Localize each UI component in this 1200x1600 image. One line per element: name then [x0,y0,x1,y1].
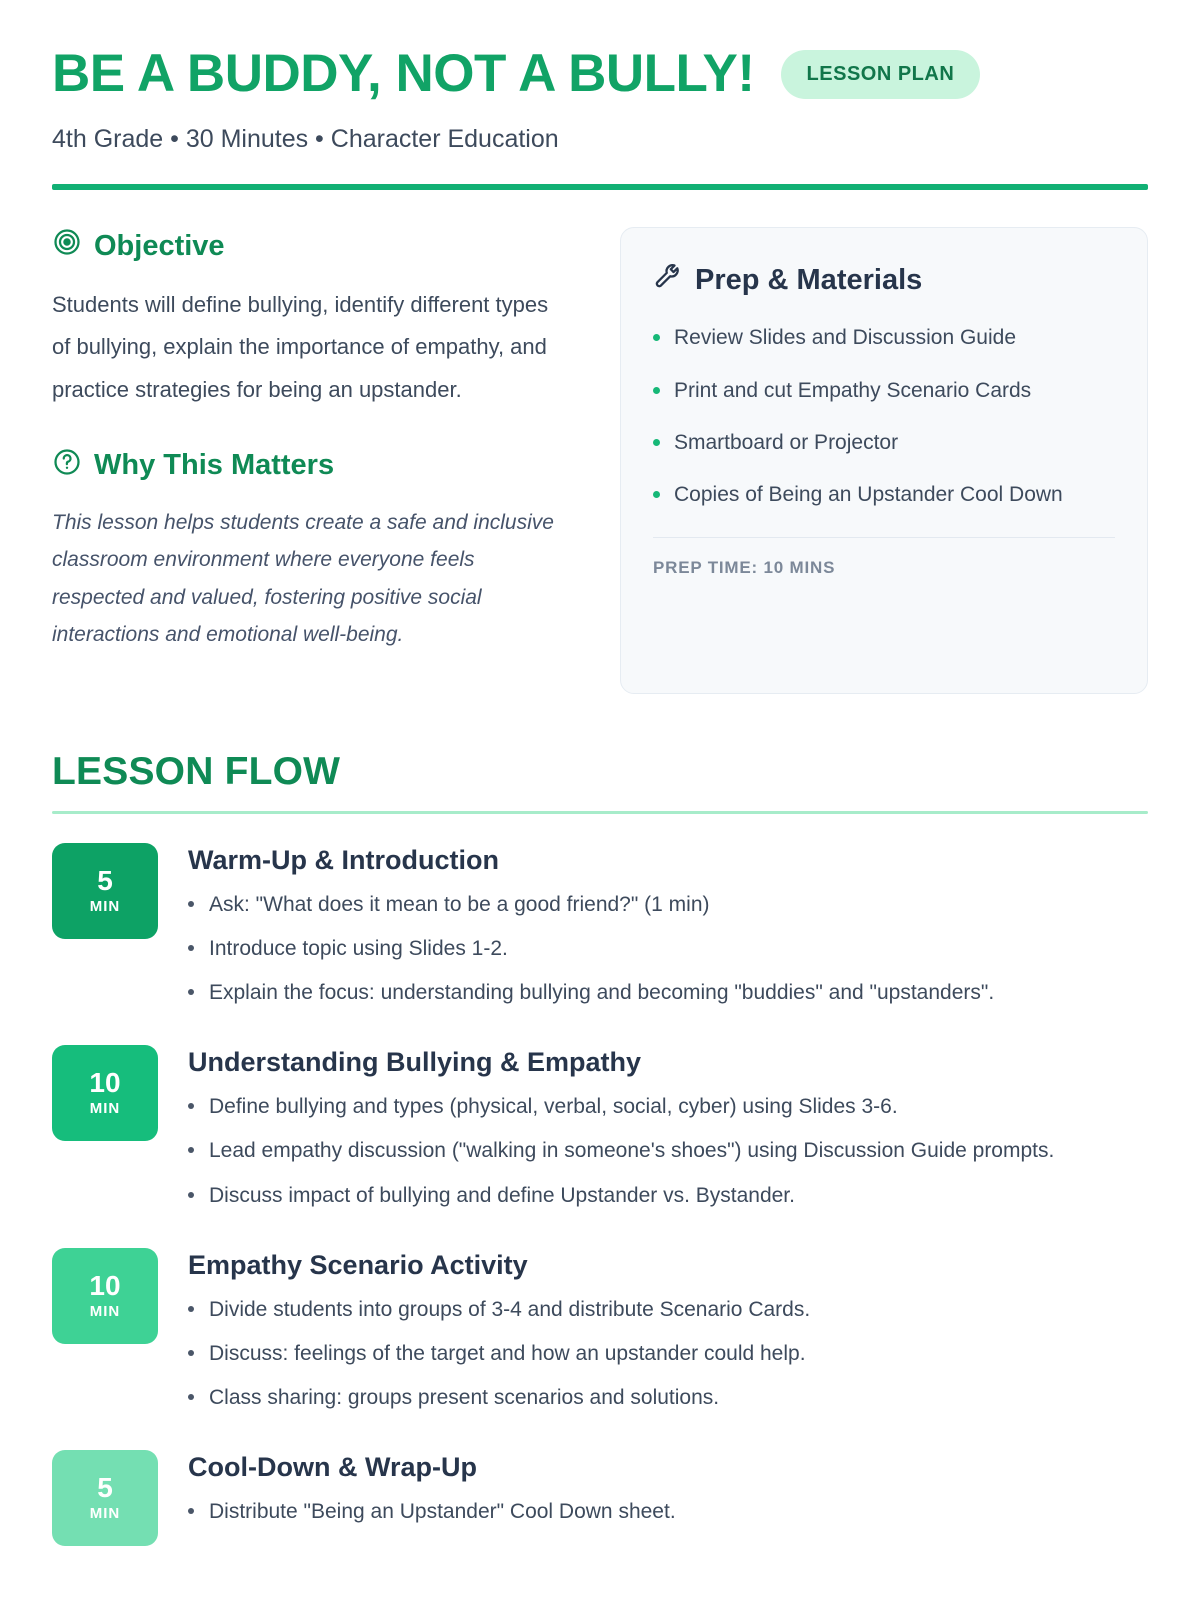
bullet-dot [188,1350,194,1356]
bullet-dot [188,989,194,995]
step-title: Cool-Down & Wrap-Up [188,1452,1148,1483]
right-column: Prep & Materials Review Slides and Discu… [620,227,1148,694]
why-heading: Why This Matters [94,449,334,482]
step-bullet-list: Divide students into groups of 3-4 and d… [188,1294,1148,1413]
lesson-step: 5 MIN Cool-Down & Wrap-Up Distribute "Be… [52,1450,1148,1546]
lesson-flow-divider [52,811,1148,814]
prep-time-label: PREP TIME: 10 MINS [653,558,1115,578]
list-item-label: Class sharing: groups present scenarios … [209,1382,719,1413]
list-item: Lead empathy discussion ("walking in som… [188,1135,1148,1166]
bullet-dot [188,1103,194,1109]
document-subtitle: 4th Grade • 30 Minutes • Character Educa… [52,125,1148,154]
list-item: Distribute "Being an Upstander" Cool Dow… [188,1496,1148,1527]
list-item: Explain the focus: understanding bullyin… [188,977,1148,1008]
document-header: BE A BUDDY, NOT A BULLY! LESSON PLAN [52,46,1148,102]
bullet-dot [188,1306,194,1312]
list-item: Discuss: feelings of the target and how … [188,1338,1148,1369]
step-time-badge: 10 MIN [52,1045,158,1141]
step-title: Warm-Up & Introduction [188,845,1148,876]
left-column: Objective Students will define bullying,… [52,227,572,653]
question-circle-icon [52,447,82,485]
lesson-step: 5 MIN Warm-Up & Introduction Ask: "What … [52,843,1148,1008]
step-time-unit: MIN [90,1100,121,1117]
page-title: BE A BUDDY, NOT A BULLY! [52,46,755,102]
list-item-label: Lead empathy discussion ("walking in som… [209,1135,1054,1166]
prep-materials-list: Review Slides and Discussion Guide Print… [653,323,1115,511]
lesson-plan-badge: LESSON PLAN [781,50,981,99]
step-time-unit: MIN [90,1505,121,1522]
step-time-unit: MIN [90,1303,121,1320]
step-body: Empathy Scenario Activity Divide student… [188,1248,1148,1413]
prep-heading-row: Prep & Materials [653,262,1115,299]
bullet-dot [188,901,194,907]
step-title: Understanding Bullying & Empathy [188,1047,1148,1078]
bullet-dot [188,945,194,951]
step-time-badge: 5 MIN [52,843,158,939]
list-item-label: Smartboard or Projector [674,428,898,458]
step-time-badge: 5 MIN [52,1450,158,1546]
bullet-dot [188,1508,194,1514]
objective-heading-row: Objective [52,227,572,265]
list-item: Divide students into groups of 3-4 and d… [188,1294,1148,1325]
list-item: Smartboard or Projector [653,428,1115,458]
list-item-label: Define bullying and types (physical, ver… [209,1091,898,1122]
target-icon [52,227,82,265]
bullet-dot [188,1192,194,1198]
step-bullet-list: Distribute "Being an Upstander" Cool Dow… [188,1496,1148,1527]
step-title: Empathy Scenario Activity [188,1250,1148,1281]
wrench-icon [653,262,682,299]
step-time-value: 10 [89,1069,120,1097]
step-body: Understanding Bullying & Empathy Define … [188,1045,1148,1210]
list-item: Ask: "What does it mean to be a good fri… [188,889,1148,920]
bullet-dot [188,1394,194,1400]
lesson-step: 10 MIN Empathy Scenario Activity Divide … [52,1248,1148,1413]
why-heading-row: Why This Matters [52,447,572,485]
list-item-label: Copies of Being an Upstander Cool Down [674,480,1063,510]
list-item-label: Discuss: feelings of the target and how … [209,1338,806,1369]
step-time-value: 5 [97,867,113,895]
step-bullet-list: Define bullying and types (physical, ver… [188,1091,1148,1210]
step-time-badge: 10 MIN [52,1248,158,1344]
objective-heading: Objective [94,230,225,263]
step-time-unit: MIN [90,898,121,915]
step-time-value: 5 [97,1474,113,1502]
objective-body: Students will define bullying, identify … [52,284,572,411]
list-item-label: Divide students into groups of 3-4 and d… [209,1294,810,1325]
list-item-label: Distribute "Being an Upstander" Cool Dow… [209,1496,676,1527]
lesson-flow-heading: LESSON FLOW [52,750,1148,794]
bullet-dot [653,439,660,446]
top-columns: Objective Students will define bullying,… [52,227,1148,694]
step-body: Warm-Up & Introduction Ask: "What does i… [188,843,1148,1008]
list-item-label: Print and cut Empathy Scenario Cards [674,376,1031,406]
bullet-dot [653,334,660,341]
header-divider [52,184,1148,190]
list-item: Introduce topic using Slides 1-2. [188,933,1148,964]
lesson-flow-steps: 5 MIN Warm-Up & Introduction Ask: "What … [52,843,1148,1546]
bullet-dot [653,387,660,394]
bullet-dot [188,1147,194,1153]
prep-materials-card: Prep & Materials Review Slides and Discu… [620,227,1148,694]
prep-heading: Prep & Materials [695,264,922,297]
list-item: Discuss impact of bullying and define Up… [188,1180,1148,1211]
list-item-label: Ask: "What does it mean to be a good fri… [209,889,710,920]
list-item: Class sharing: groups present scenarios … [188,1382,1148,1413]
list-item-label: Introduce topic using Slides 1-2. [209,933,508,964]
list-item: Define bullying and types (physical, ver… [188,1091,1148,1122]
list-item: Review Slides and Discussion Guide [653,323,1115,353]
list-item: Copies of Being an Upstander Cool Down [653,480,1115,510]
lesson-step: 10 MIN Understanding Bullying & Empathy … [52,1045,1148,1210]
step-body: Cool-Down & Wrap-Up Distribute "Being an… [188,1450,1148,1546]
bullet-dot [653,491,660,498]
step-bullet-list: Ask: "What does it mean to be a good fri… [188,889,1148,1008]
lesson-plan-document: BE A BUDDY, NOT A BULLY! LESSON PLAN 4th… [0,0,1200,1546]
list-item-label: Discuss impact of bullying and define Up… [209,1180,795,1211]
list-item: Print and cut Empathy Scenario Cards [653,376,1115,406]
why-body: This lesson helps students create a safe… [52,504,572,654]
list-item-label: Explain the focus: understanding bullyin… [209,977,994,1008]
step-time-value: 10 [89,1272,120,1300]
list-item-label: Review Slides and Discussion Guide [674,323,1016,353]
prep-divider [653,537,1115,538]
